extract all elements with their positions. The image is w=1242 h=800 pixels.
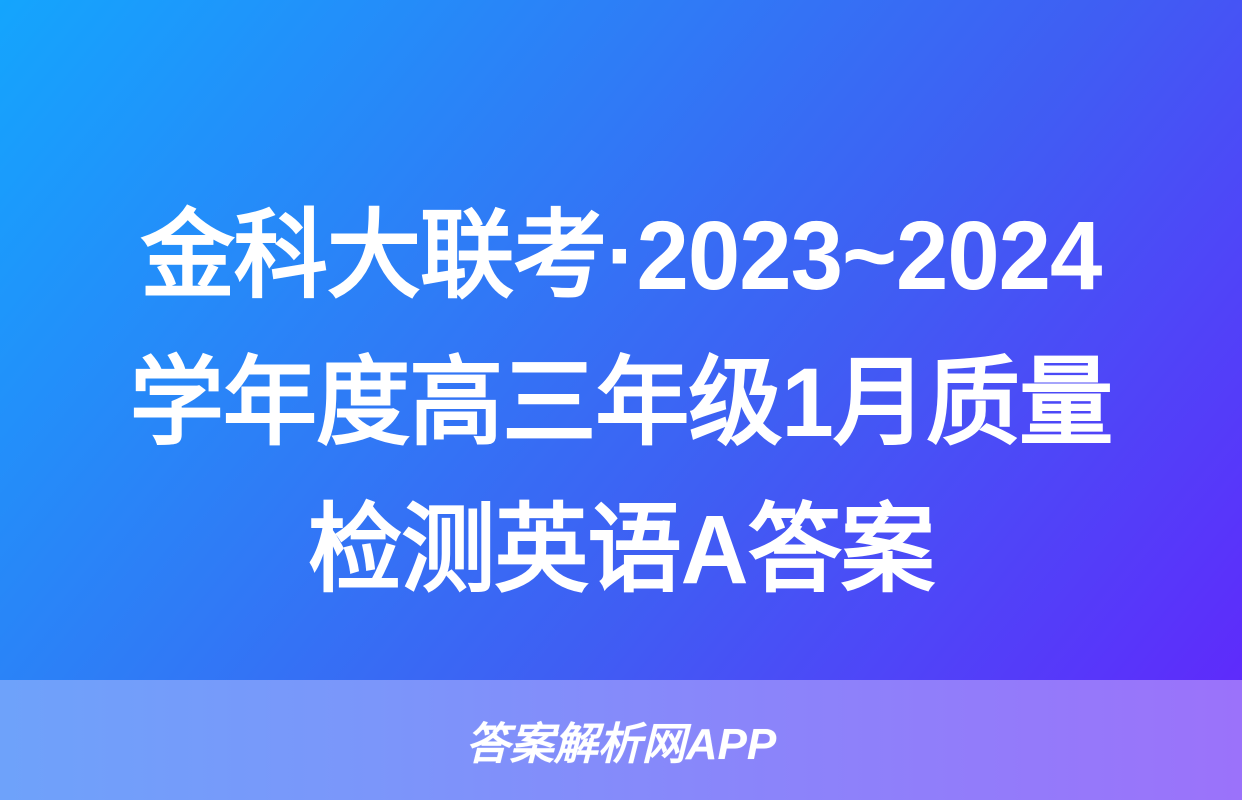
title-line-2: 学年度高三年级1月质量: [19, 329, 1224, 476]
exam-title-block: 金科大联考·2023~2024 学年度高三年级1月质量 检测英语A答案: [0, 182, 1242, 623]
gradient-background: 金科大联考·2023~2024 学年度高三年级1月质量 检测英语A答案: [0, 0, 1242, 680]
footer-watermark-band: 答案解析网APP: [0, 680, 1242, 800]
title-line-3: 检测英语A答案: [19, 476, 1224, 623]
app-watermark-label: 答案解析网APP: [466, 708, 776, 772]
answer-banner-card: 金科大联考·2023~2024 学年度高三年级1月质量 检测英语A答案 答案解析…: [0, 0, 1242, 800]
title-line-1: 金科大联考·2023~2024: [19, 182, 1224, 329]
